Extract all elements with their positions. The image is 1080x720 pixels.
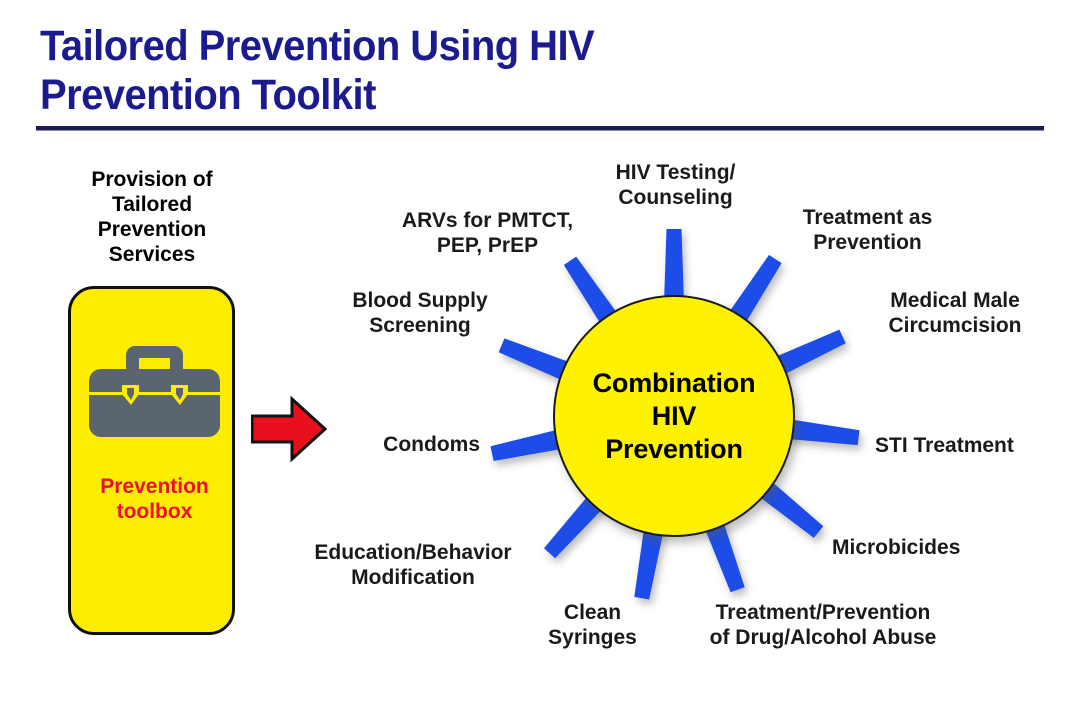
spoke-label-medical-male-circumcision[interactable]: Medical Male Circumcision	[845, 288, 1065, 338]
left-panel-caption: Provision of Tailored Prevention Service…	[62, 167, 242, 267]
title-divider	[36, 126, 1044, 131]
spoke-label-hiv-testing[interactable]: HIV Testing/ Counseling	[568, 160, 783, 210]
spoke-label-treatment-as-prevention[interactable]: Treatment as Prevention	[760, 205, 975, 255]
toolbox-icon	[89, 344, 220, 439]
spoke-label-blood-supply[interactable]: Blood Supply Screening	[320, 288, 520, 338]
toolbox-label: Prevention toolbox	[75, 474, 234, 524]
spoke-label-education-behavior[interactable]: Education/Behavior Modification	[278, 540, 548, 590]
center-label: Combination HIV Prevention	[553, 295, 795, 537]
spoke-label-drug-alcohol[interactable]: Treatment/Prevention of Drug/Alcohol Abu…	[673, 600, 973, 650]
prevention-toolbox-card[interactable]: Prevention toolbox	[68, 286, 235, 635]
spoke-label-clean-syringes[interactable]: Clean Syringes	[510, 600, 675, 650]
sunburst-ray-0	[664, 229, 684, 303]
spoke-label-microbicides[interactable]: Microbicides	[832, 535, 1032, 560]
page-title: Tailored Prevention Using HIV Prevention…	[40, 22, 840, 120]
slide-canvas: Tailored Prevention Using HIV Prevention…	[0, 0, 1080, 720]
sunburst-ray-3	[784, 419, 860, 445]
spoke-label-arvs[interactable]: ARVs for PMTCT, PEP, PrEP	[370, 208, 605, 258]
spoke-label-sti-treatment[interactable]: STI Treatment	[875, 433, 1075, 458]
spoke-label-condoms[interactable]: Condoms	[290, 432, 480, 457]
